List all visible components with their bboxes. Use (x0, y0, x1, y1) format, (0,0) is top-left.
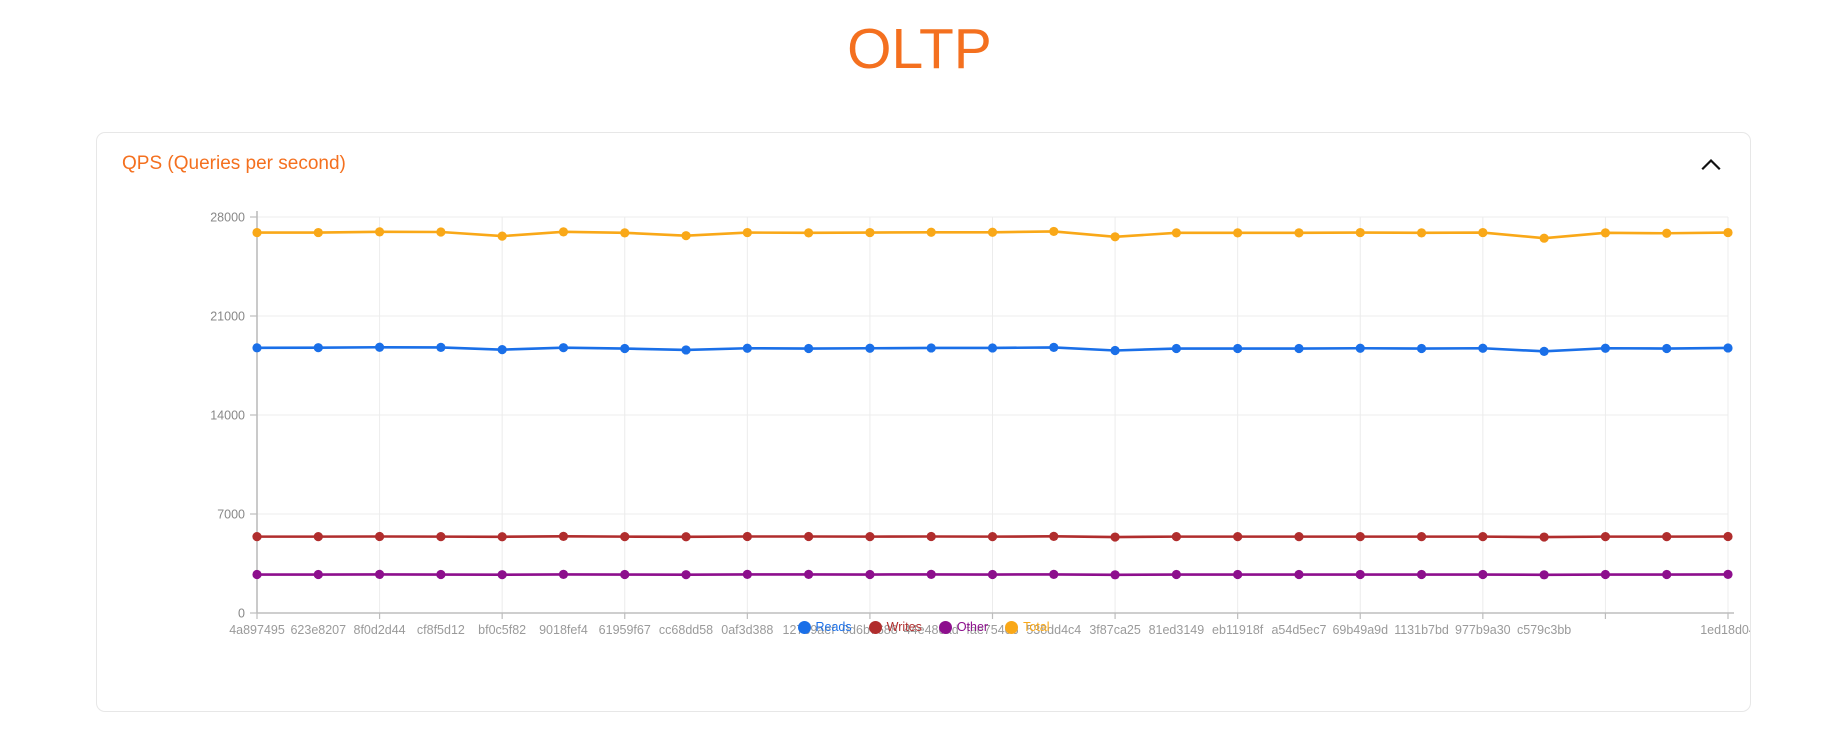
legend-swatch-icon (798, 621, 811, 634)
data-point-other[interactable] (314, 570, 323, 579)
legend-item-reads[interactable]: Reads (798, 620, 852, 634)
legend-swatch-icon (939, 621, 952, 634)
data-point-reads[interactable] (1233, 344, 1242, 353)
data-point-writes[interactable] (1662, 532, 1671, 541)
data-point-reads[interactable] (1723, 343, 1732, 352)
data-point-reads[interactable] (375, 343, 384, 352)
data-point-reads[interactable] (620, 344, 629, 353)
data-point-writes[interactable] (498, 532, 507, 541)
data-point-reads[interactable] (1172, 344, 1181, 353)
data-point-other[interactable] (1601, 570, 1610, 579)
data-point-writes[interactable] (681, 532, 690, 541)
data-point-other[interactable] (1662, 570, 1671, 579)
data-point-writes[interactable] (1110, 532, 1119, 541)
data-point-writes[interactable] (436, 532, 445, 541)
data-point-other[interactable] (559, 570, 568, 579)
data-point-total[interactable] (314, 228, 323, 237)
chevron-up-icon (1701, 158, 1721, 171)
data-point-writes[interactable] (1540, 532, 1549, 541)
data-point-writes[interactable] (988, 532, 997, 541)
data-point-total[interactable] (988, 228, 997, 237)
legend-item-total[interactable]: Total (1005, 620, 1049, 634)
data-point-other[interactable] (1478, 570, 1487, 579)
data-point-total[interactable] (804, 228, 813, 237)
data-point-other[interactable] (1723, 570, 1732, 579)
panel-collapse-button[interactable] (1698, 151, 1724, 177)
data-point-reads[interactable] (681, 345, 690, 354)
data-point-other[interactable] (1294, 570, 1303, 579)
data-point-writes[interactable] (375, 532, 384, 541)
data-point-total[interactable] (1417, 228, 1426, 237)
data-point-reads[interactable] (252, 343, 261, 352)
panel-header: QPS (Queries per second) (97, 133, 1750, 195)
data-point-other[interactable] (620, 570, 629, 579)
data-point-total[interactable] (1233, 228, 1242, 237)
chart-canvas: 070001400021000280004a897495623e82078f0d… (97, 195, 1750, 675)
data-point-total[interactable] (559, 227, 568, 236)
legend-label: Writes (887, 620, 922, 634)
data-point-writes[interactable] (865, 532, 874, 541)
legend-item-writes[interactable]: Writes (869, 620, 922, 634)
data-point-writes[interactable] (804, 532, 813, 541)
data-point-reads[interactable] (498, 345, 507, 354)
data-point-total[interactable] (1478, 228, 1487, 237)
data-point-reads[interactable] (314, 343, 323, 352)
y-axis-tick-label: 28000 (210, 211, 245, 225)
data-point-total[interactable] (681, 231, 690, 240)
data-point-other[interactable] (1049, 570, 1058, 579)
data-point-reads[interactable] (1417, 344, 1426, 353)
panel-title: QPS (Queries per second) (122, 153, 346, 175)
data-point-other[interactable] (743, 570, 752, 579)
y-axis-tick-label: 14000 (210, 409, 245, 423)
data-point-total[interactable] (1723, 228, 1732, 237)
data-point-reads[interactable] (865, 344, 874, 353)
data-point-other[interactable] (927, 570, 936, 579)
data-point-other[interactable] (1356, 570, 1365, 579)
data-point-reads[interactable] (804, 344, 813, 353)
data-point-total[interactable] (498, 231, 507, 240)
data-point-other[interactable] (375, 570, 384, 579)
data-point-writes[interactable] (1294, 532, 1303, 541)
data-point-total[interactable] (1601, 228, 1610, 237)
data-point-other[interactable] (1110, 570, 1119, 579)
data-point-total[interactable] (375, 227, 384, 236)
data-point-total[interactable] (436, 227, 445, 236)
data-point-total[interactable] (865, 228, 874, 237)
legend-item-other[interactable]: Other (939, 620, 988, 634)
data-point-writes[interactable] (743, 532, 752, 541)
data-point-reads[interactable] (1356, 344, 1365, 353)
data-point-reads[interactable] (1049, 343, 1058, 352)
data-point-other[interactable] (436, 570, 445, 579)
legend-swatch-icon (1005, 621, 1018, 634)
data-point-writes[interactable] (1417, 532, 1426, 541)
data-point-reads[interactable] (1110, 346, 1119, 355)
data-point-total[interactable] (743, 228, 752, 237)
data-point-writes[interactable] (1049, 532, 1058, 541)
data-point-total[interactable] (620, 228, 629, 237)
data-point-reads[interactable] (743, 344, 752, 353)
data-point-other[interactable] (865, 570, 874, 579)
data-point-writes[interactable] (1723, 532, 1732, 541)
data-point-reads[interactable] (927, 343, 936, 352)
data-point-other[interactable] (1172, 570, 1181, 579)
data-point-writes[interactable] (1233, 532, 1242, 541)
data-point-reads[interactable] (1478, 344, 1487, 353)
data-point-writes[interactable] (252, 532, 261, 541)
data-point-total[interactable] (1172, 228, 1181, 237)
data-point-total[interactable] (1540, 234, 1549, 243)
page-title: OLTP (0, 14, 1839, 84)
data-point-writes[interactable] (559, 532, 568, 541)
data-point-writes[interactable] (927, 532, 936, 541)
data-point-writes[interactable] (1601, 532, 1610, 541)
data-point-writes[interactable] (620, 532, 629, 541)
data-point-reads[interactable] (1662, 344, 1671, 353)
data-point-total[interactable] (252, 228, 261, 237)
data-point-total[interactable] (927, 228, 936, 237)
legend-label: Reads (816, 620, 852, 634)
qps-panel: QPS (Queries per second) 070001400021000… (96, 132, 1751, 712)
data-point-writes[interactable] (314, 532, 323, 541)
data-point-other[interactable] (1233, 570, 1242, 579)
legend-label: Total (1023, 620, 1049, 634)
data-point-writes[interactable] (1172, 532, 1181, 541)
y-axis-tick-label: 21000 (210, 310, 245, 324)
data-point-total[interactable] (1294, 228, 1303, 237)
data-point-writes[interactable] (1478, 532, 1487, 541)
data-point-total[interactable] (1356, 228, 1365, 237)
data-point-other[interactable] (252, 570, 261, 579)
legend-swatch-icon (869, 621, 882, 634)
data-point-reads[interactable] (988, 343, 997, 352)
data-point-other[interactable] (498, 570, 507, 579)
chart-legend: ReadsWritesOtherTotal (97, 620, 1750, 634)
data-point-reads[interactable] (1601, 344, 1610, 353)
data-point-other[interactable] (988, 570, 997, 579)
data-point-total[interactable] (1049, 227, 1058, 236)
data-point-writes[interactable] (1356, 532, 1365, 541)
data-point-reads[interactable] (436, 343, 445, 352)
data-point-reads[interactable] (1294, 344, 1303, 353)
y-axis-tick-label: 0 (238, 607, 245, 621)
page-root: OLTP QPS (Queries per second) 0700014000… (0, 0, 1839, 736)
y-axis-tick-label: 7000 (217, 508, 245, 522)
data-point-total[interactable] (1110, 232, 1119, 241)
data-point-other[interactable] (1417, 570, 1426, 579)
legend-label: Other (957, 620, 988, 634)
data-point-total[interactable] (1662, 229, 1671, 238)
data-point-other[interactable] (1540, 570, 1549, 579)
data-point-other[interactable] (804, 570, 813, 579)
data-point-reads[interactable] (1540, 347, 1549, 356)
data-point-reads[interactable] (559, 343, 568, 352)
data-point-other[interactable] (681, 570, 690, 579)
